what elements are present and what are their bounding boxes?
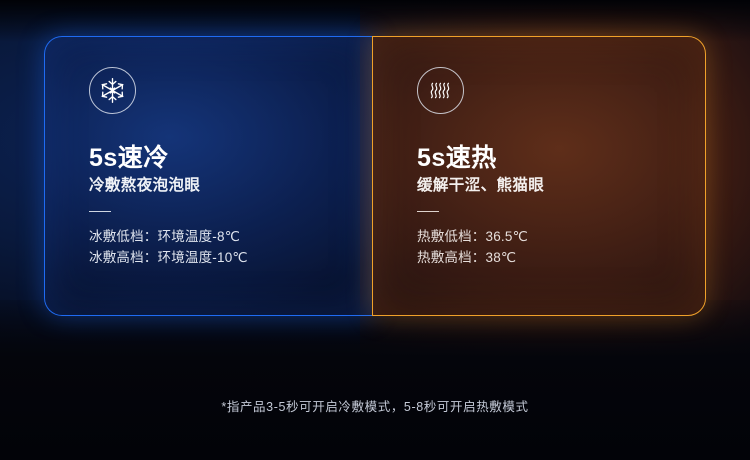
hot-subline: 缓解干涩、熊猫眼 <box>417 177 544 196</box>
hot-specs: 热敷低档：36.5℃ 热敷高档：38℃ <box>417 226 544 270</box>
snowflake-icon <box>89 67 136 114</box>
hot-mode-panel: 5s速热 缓解干涩、熊猫眼 热敷低档：36.5℃ 热敷高档：38℃ <box>372 36 706 316</box>
heat-waves-icon <box>417 67 464 114</box>
background-bottom-vignette <box>0 300 750 460</box>
hot-spec-low: 热敷低档：36.5℃ <box>417 226 544 248</box>
cold-subline: 冷敷熬夜泡泡眼 <box>89 177 248 196</box>
cold-spec-low: 冰敷低档：环境温度-8℃ <box>89 226 248 248</box>
cold-specs: 冰敷低档：环境温度-8℃ 冰敷高档：环境温度-10℃ <box>89 226 248 270</box>
footnote-text: *指产品3-5秒可开启冷敷模式，5-8秒可开启热敷模式 <box>0 396 750 415</box>
hot-spec-high: 热敷高档：38℃ <box>417 247 544 269</box>
cold-spec-high: 冰敷高档：环境温度-10℃ <box>89 247 248 269</box>
cold-headline: 5s速冷 <box>89 145 248 172</box>
cold-divider <box>89 211 111 212</box>
cold-mode-panel: 5s速冷 冷敷熬夜泡泡眼 冰敷低档：环境温度-8℃ 冰敷高档：环境温度-10℃ <box>44 36 372 316</box>
hot-headline: 5s速热 <box>417 145 544 172</box>
hot-divider <box>417 211 439 212</box>
cold-panel-content: 5s速冷 冷敷熬夜泡泡眼 冰敷低档：环境温度-8℃ 冰敷高档：环境温度-10℃ <box>89 67 248 269</box>
hot-panel-content: 5s速热 缓解干涩、熊猫眼 热敷低档：36.5℃ 热敷高档：38℃ <box>417 67 544 269</box>
promo-graphic: 5s速冷 冷敷熬夜泡泡眼 冰敷低档：环境温度-8℃ 冰敷高档：环境温度-10℃ … <box>0 0 750 460</box>
